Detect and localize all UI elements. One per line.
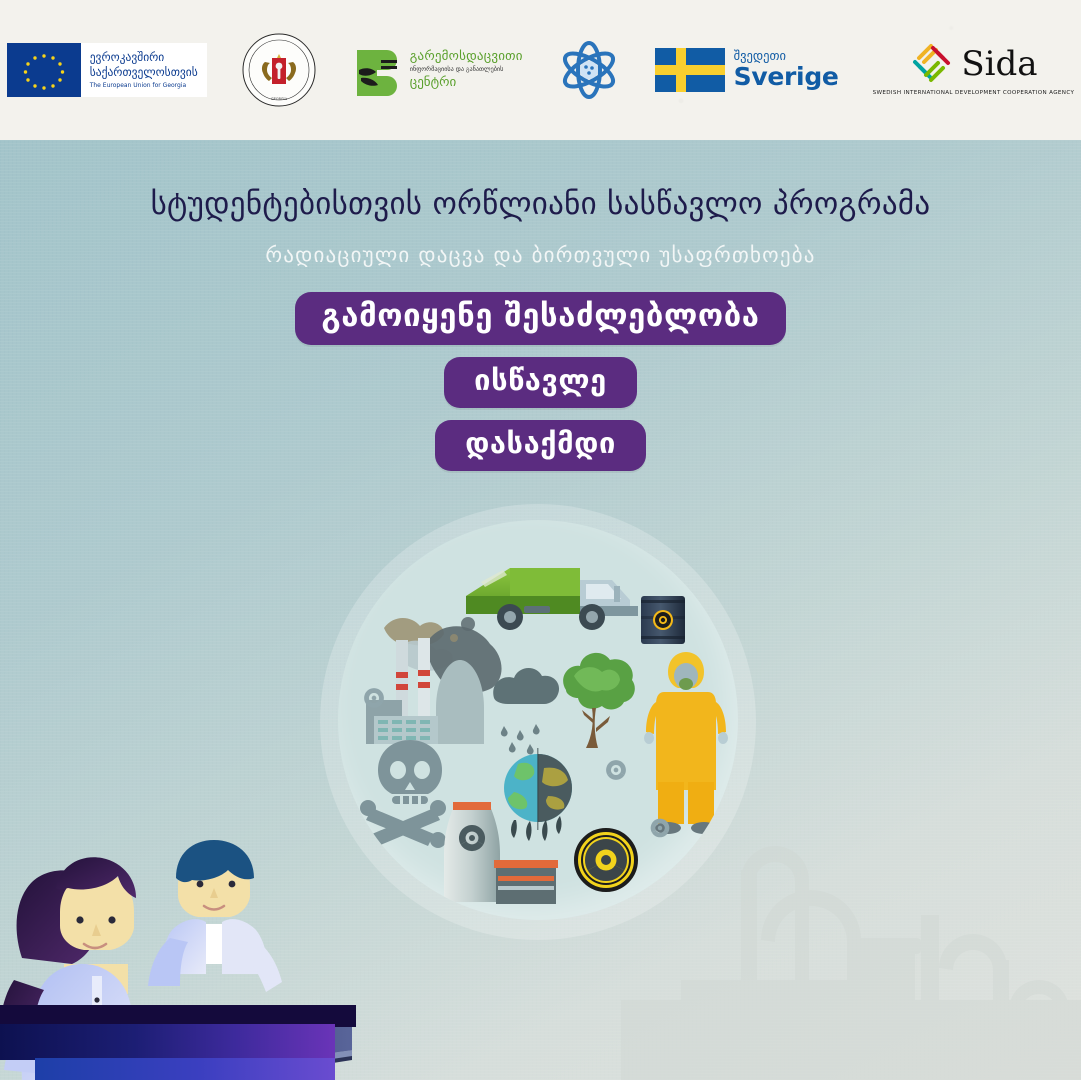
env-label-line1: გარემოსდაცვითი [410,50,523,64]
logo-sida: Sida SWEDISH INTERNATIONAL DEVELOPMENT C… [873,42,1075,97]
badge-list: გამოიყენე შესაძლებლობა ისწავლე დასაქმდი [0,292,1081,471]
radiation-warning-icon [576,830,636,890]
polluted-earth-icon [504,748,572,841]
sweden-label-ka: შვედეთი [734,50,839,63]
eu-label-line3: The European Union for Georgia [90,82,198,90]
env-label-line3: ცენტრი [410,76,523,90]
logo-environmental-centre: გარემოსდაცვითი ინფორმაციისა და განათლები… [351,44,523,96]
partner-logo-strip: ევროკავშირი საქართველოსთვის The European… [0,0,1081,140]
tree-icon [563,653,635,748]
desk-base-accent [35,1058,335,1080]
environment-book-icon [351,44,403,96]
acid-rain-cloud-icon [493,668,559,755]
garbage-truck-icon [466,568,638,630]
sida-subtitle: SWEDISH INTERNATIONAL DEVELOPMENT COOPER… [873,89,1075,97]
logo-sweden: შვედეთი Sverige [655,48,839,92]
eu-label-line1: ევროკავშირი [90,50,198,64]
eu-flag-icon [7,43,81,97]
eu-label-line2: საქართველოსთვის [90,65,198,79]
poster: ევროკავშირი საქართველოსთვის The European… [0,0,1081,1080]
badge-opportunity[interactable]: გამოიყენე შესაძლებლობა [295,292,785,345]
factory-smokestacks-icon [366,617,502,744]
sweden-flag-icon [655,48,725,92]
badge-study[interactable]: ისწავლე [444,357,637,408]
env-label-line2: ინფორმაციისა და განათლების [410,66,523,74]
logo-european-union: ევროკავშირი საქართველოსთვის The European… [7,43,207,97]
svg-text:GEORGIA: GEORGIA [271,97,288,101]
georgia-coat-of-arms-icon: GEORGIA [241,32,317,108]
sweden-label-en: Sverige [734,64,839,90]
desk-front-panel [0,1024,335,1060]
page-subtitle: რადიაციული დაცვა და ბირთვული უსაფრთხოება [0,243,1081,267]
sida-mark-icon [909,42,953,86]
hazmat-worker-icon [644,652,728,834]
sida-wordmark: Sida [961,47,1037,81]
logo-atom-agency [557,38,621,102]
logo-government-of-georgia: GEORGIA [241,32,317,108]
student-male [148,840,282,992]
radioactive-barrel-icon [641,596,685,644]
page-title: სტუდენტებისთვის ორწლიანი სასწავლო პროგრა… [0,186,1081,222]
badge-employment[interactable]: დასაქმდი [435,420,646,471]
atom-icon [557,38,621,102]
